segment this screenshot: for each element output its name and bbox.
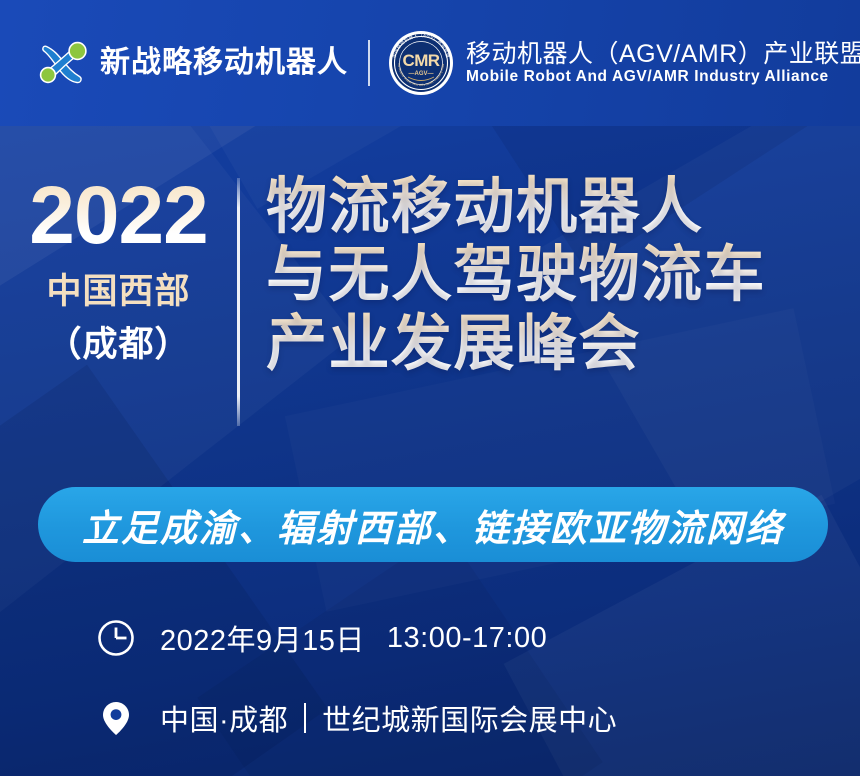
cmr-seal-icon: 中国移动机器人（AGV）产业联盟 China Mobile Robot And … xyxy=(388,30,454,96)
event-location-text: 中国·成都 世纪城新国际会展中心 xyxy=(160,697,617,739)
event-time: 13:00-17:00 xyxy=(387,622,547,655)
header: 新战略移动机器人 中国移动机器人（AGV）产业联盟 xyxy=(0,0,860,126)
event-city-name: 中国·成都 xyxy=(160,697,288,739)
header-divider xyxy=(368,40,370,86)
event-region: 中国西部 xyxy=(0,272,237,312)
svg-text:—AGV—: —AGV— xyxy=(408,71,433,77)
page-title: 物流移动机器人 与无人驾驶物流车 产业发展峰会 xyxy=(240,172,766,377)
alliance-name-cn: 移动机器人（AGV/AMR）产业联盟 xyxy=(466,40,860,68)
brand-name: 新战略移动机器人 xyxy=(100,48,348,78)
event-city: （成都） xyxy=(0,325,237,365)
heading-line-2: 与无人驾驶物流车 xyxy=(266,240,766,308)
brand-left: 新战略移动机器人 xyxy=(36,38,348,88)
alliance-brand: 中国移动机器人（AGV）产业联盟 China Mobile Robot And … xyxy=(388,30,860,96)
event-poster: 新战略移动机器人 中国移动机器人（AGV）产业联盟 xyxy=(0,0,860,776)
title-block: 2022 中国西部 （成都） 物流移动机器人 与无人驾驶物流车 产业发展峰会 xyxy=(0,172,860,426)
molecule-logo-icon xyxy=(36,38,90,88)
location-separator xyxy=(304,703,306,733)
map-pin-icon xyxy=(96,698,136,738)
clock-icon xyxy=(96,618,136,658)
event-venue: 世纪城新国际会展中心 xyxy=(322,697,617,739)
event-location-row: 中国·成都 世纪城新国际会展中心 xyxy=(96,697,617,739)
event-year: 2022 xyxy=(0,176,237,256)
year-column: 2022 中国西部 （成都） xyxy=(0,172,237,365)
event-date: 2022年9月15日 xyxy=(160,617,365,659)
alliance-names: 移动机器人（AGV/AMR）产业联盟 Mobile Robot And AGV/… xyxy=(466,41,860,86)
heading-line-1: 物流移动机器人 xyxy=(266,172,766,240)
alliance-name-en: Mobile Robot And AGV/AMR Industry Allian… xyxy=(466,69,860,85)
slogan-text: 立足成渝、辐射西部、链接欧亚物流网络 xyxy=(82,498,784,552)
svg-text:CMR: CMR xyxy=(403,51,440,70)
event-date-row: 2022年9月15日 13:00-17:00 xyxy=(96,617,547,659)
heading-line-3: 产业发展峰会 xyxy=(266,309,766,377)
event-date-text: 2022年9月15日 13:00-17:00 xyxy=(160,617,547,659)
slogan-banner: 立足成渝、辐射西部、链接欧亚物流网络 xyxy=(38,487,828,562)
